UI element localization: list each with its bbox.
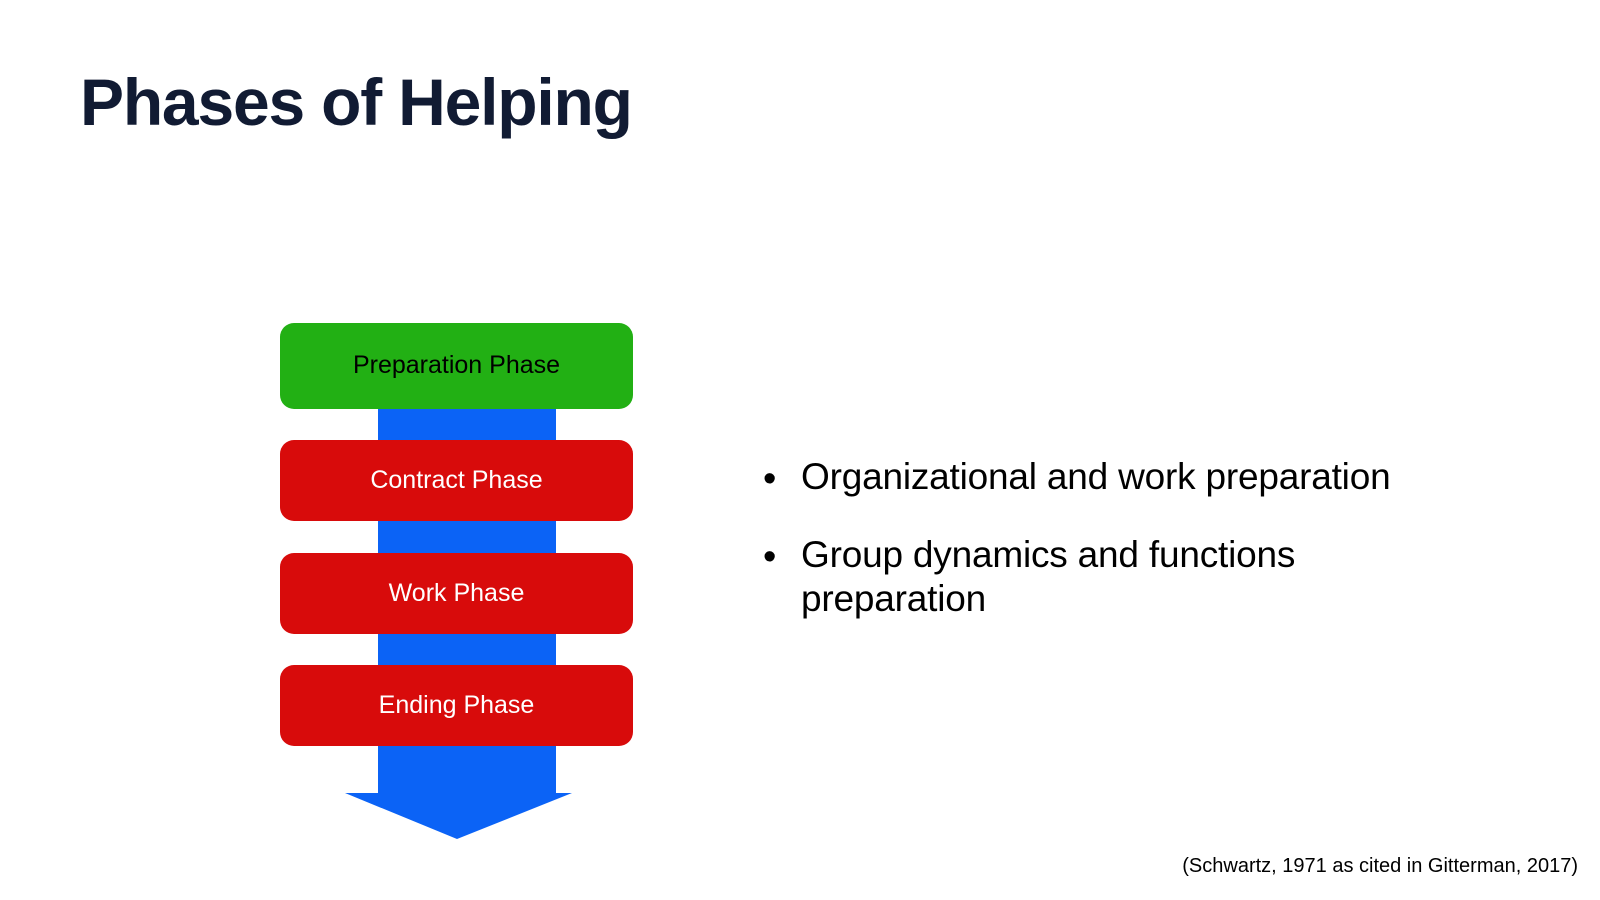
phase-box-preparation[interactable]: Preparation Phase <box>280 323 633 409</box>
phase-box-ending[interactable]: Ending Phase <box>280 665 633 746</box>
phase-box-work[interactable]: Work Phase <box>280 553 633 634</box>
bullet-marker-icon: • <box>755 455 801 503</box>
phase-label: Work Phase <box>389 580 525 608</box>
list-item-label: Organizational and work preparation <box>801 455 1390 499</box>
list-item-label: Group dynamics and functions preparation <box>801 533 1366 620</box>
list-item: • Group dynamics and functions preparati… <box>755 533 1485 620</box>
list-item: • Organizational and work preparation <box>755 455 1485 503</box>
phases-funnel-diagram: Preparation Phase Contract Phase Work Ph… <box>280 323 635 843</box>
slide-canvas: Phases of Helping Preparation Phase Cont… <box>0 0 1600 900</box>
bullet-marker-icon: • <box>755 533 801 581</box>
phase-label: Ending Phase <box>379 692 535 720</box>
phase-label: Contract Phase <box>370 467 542 495</box>
phase-label: Preparation Phase <box>353 352 560 380</box>
bullet-list: • Organizational and work preparation • … <box>755 455 1485 650</box>
citation-text: (Schwartz, 1971 as cited in Gitterman, 2… <box>1182 855 1578 878</box>
phase-box-contract[interactable]: Contract Phase <box>280 440 633 521</box>
page-title: Phases of Helping <box>80 68 632 137</box>
